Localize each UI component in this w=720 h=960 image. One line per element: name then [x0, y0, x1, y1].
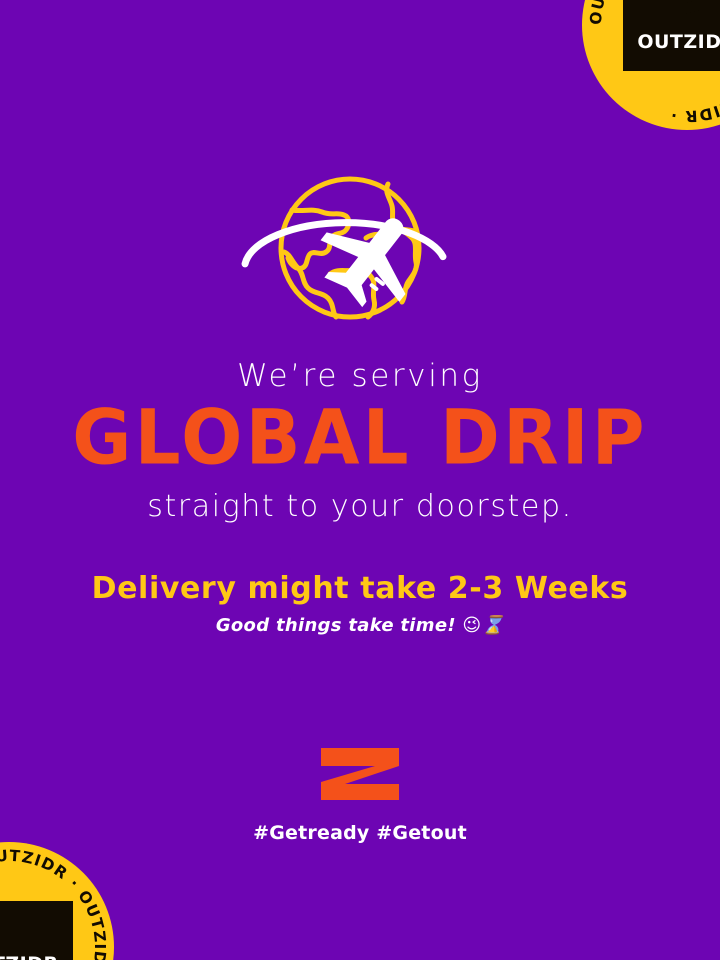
copy-block: We’re serving GLOBAL DRIP straight to yo…	[0, 360, 720, 636]
badge-wordmark: OUTZIDR	[0, 955, 59, 960]
wordmark-suffix: IDR	[698, 31, 720, 53]
subhead-text: straight to your doorstep.	[0, 491, 720, 523]
badge-core: OUTZIDR	[623, 0, 720, 71]
wordmark-prefix: OUT	[637, 31, 683, 53]
outzidr-z-logo	[644, 0, 720, 29]
outzidr-z-logo	[0, 909, 52, 951]
reassurance-text: Good things take time! 😉⌛	[0, 616, 720, 636]
outzidr-stamp-top-right: OUTZIDR · OUTZIDR · OUTZIDR · OUTZIDR · …	[582, 0, 720, 130]
delivery-notice: Delivery might take 2-3 Weeks	[0, 572, 720, 605]
eyebrow-text: We’re serving	[0, 360, 720, 393]
badge-wordmark: OUTZIDR	[637, 33, 720, 52]
wordmark-z-glyph: Z	[5, 953, 19, 960]
outzidr-z-logo	[319, 746, 401, 802]
headline-text: GLOBAL DRIP	[0, 401, 720, 477]
hero-illustration	[0, 168, 720, 343]
outzidr-stamp-bottom-left: OUTZIDR · OUTZIDR · OUTZIDR · OUTZIDR · …	[0, 842, 114, 960]
wordmark-z-glyph: Z	[683, 31, 697, 53]
badge-core: OUTZIDR	[0, 901, 73, 960]
globe-plane-artwork	[240, 168, 480, 343]
promo-poster: We’re serving GLOBAL DRIP straight to yo…	[0, 0, 720, 960]
wordmark-suffix: IDR	[20, 953, 59, 960]
footer-brand: #Getready #Getout	[0, 746, 720, 844]
hashtag-text: #Getready #Getout	[253, 822, 467, 844]
